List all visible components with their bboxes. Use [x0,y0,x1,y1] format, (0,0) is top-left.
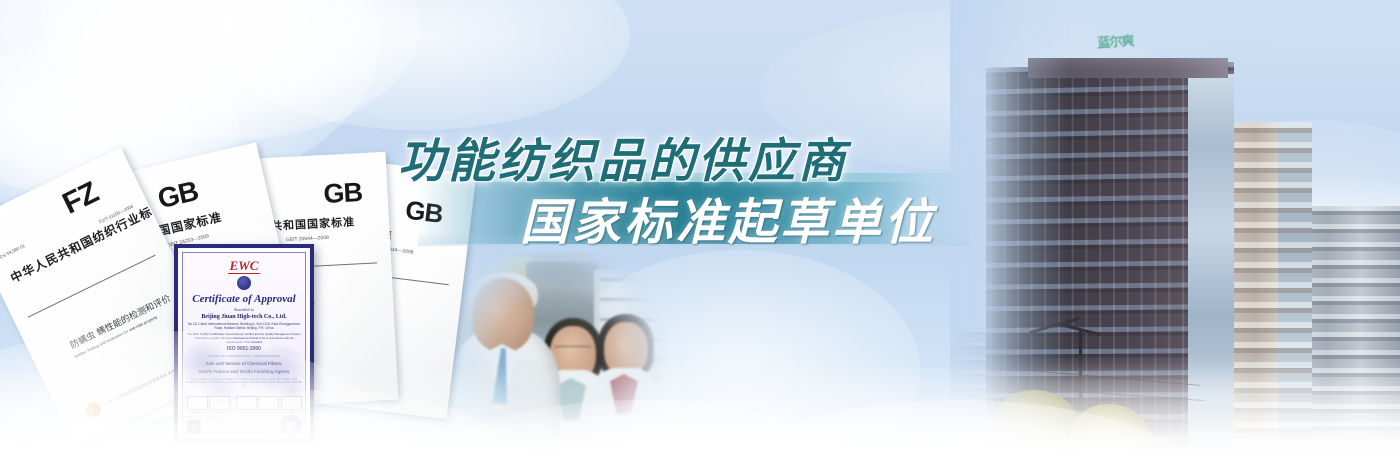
bottom-white-haze [0,364,1400,474]
certificate-standard: ISO 9001:2000 [178,346,310,352]
document-logo: FZ [57,176,103,222]
document-subtitle: 防螨虫 螨性能的检测和评价 [68,291,173,351]
headline-teal-band-bottom-fade [418,232,970,246]
document-logo: GB [323,177,363,210]
anchor-seal-icon [237,276,251,290]
certificate-awarded-label: Awarded to [178,307,310,312]
headline-teal-band-highlight [418,173,970,182]
document-side-code: ICS 59.080.01 [0,243,26,260]
certificate-company-name: Beijing Jiuan High-tech Co., Ltd. [178,314,310,320]
cloud-top-left-2 [40,0,420,140]
certificate-company-address: No.18, Caizhi International Mansion, Bui… [184,322,304,331]
certificate-body-text: The EWC Quality Certification Council he… [186,333,302,344]
document-logo: GB [404,195,445,230]
headline-teal-band [418,173,970,244]
headline-line-2: 国家标准起草单位 [520,183,936,254]
certificate-issuer-rule [228,273,260,274]
document-code: GB/T 20944—2008 [286,235,329,243]
certificate-issuer-logo: EWC [178,258,310,274]
certificate-heading: Certificate of Approval [178,293,310,305]
company-hero-banner: 蓝尔爽 [0,0,1400,474]
document-logo: GB [155,175,201,215]
certificate-scope-label: SCOPE OF CERTIFICATION / REGISTRATION [178,354,310,358]
cloud-top-left-4 [210,0,630,130]
